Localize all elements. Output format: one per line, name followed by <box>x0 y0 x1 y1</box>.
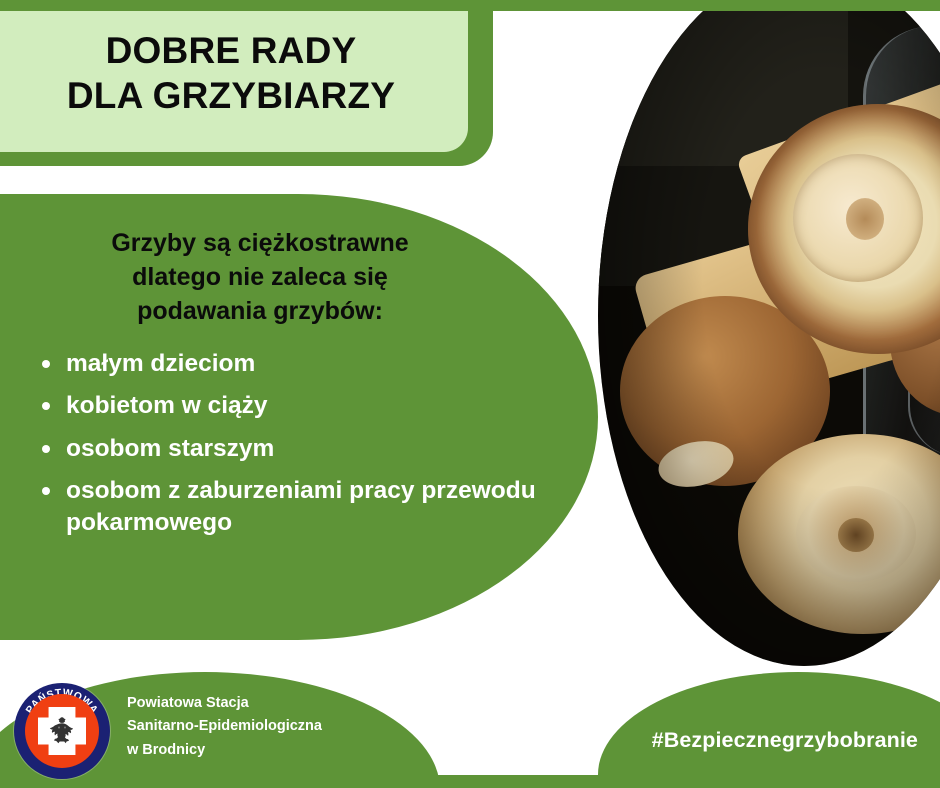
advice-list: małym dzieciom kobietom w ciąży osobom s… <box>0 348 598 550</box>
list-item: kobietom w ciąży <box>30 390 558 432</box>
advice-panel: Grzyby są ciężkostrawne dlatego nie zale… <box>0 194 598 640</box>
header-panel: DOBRE RADY DLA GRZYBIARZY <box>0 11 468 152</box>
list-item: osobom starszym <box>30 433 558 475</box>
list-item: osobom z zaburzeniami pracy przewodu pok… <box>30 475 558 550</box>
intro-text: Grzyby są ciężkostrawne dlatego nie zale… <box>0 194 598 328</box>
campaign-hashtag: #Bezpiecznegrzybobranie <box>652 728 918 753</box>
sanitary-inspection-logo: PAŃSTWOWA INSPEKCJA SANITARNA <box>14 683 110 779</box>
footer-bottom-bar <box>0 775 940 788</box>
polish-eagle-icon <box>48 716 76 747</box>
mushrooms-photo <box>598 0 940 666</box>
mushrooms-photo-image <box>598 0 940 666</box>
poster-canvas: DOBRE RADY DLA GRZYBIARZY Grzyby są cięż… <box>0 0 940 788</box>
header-card: DOBRE RADY DLA GRZYBIARZY <box>0 0 493 166</box>
list-item: małym dzieciom <box>30 348 558 390</box>
photo-mushroom-stem <box>846 198 884 240</box>
photo-mushroom-stem <box>838 518 874 552</box>
page-title: DOBRE RADY DLA GRZYBIARZY <box>0 11 468 118</box>
organisation-name: Powiatowa Stacja Sanitarno-Epidemiologic… <box>127 692 417 762</box>
